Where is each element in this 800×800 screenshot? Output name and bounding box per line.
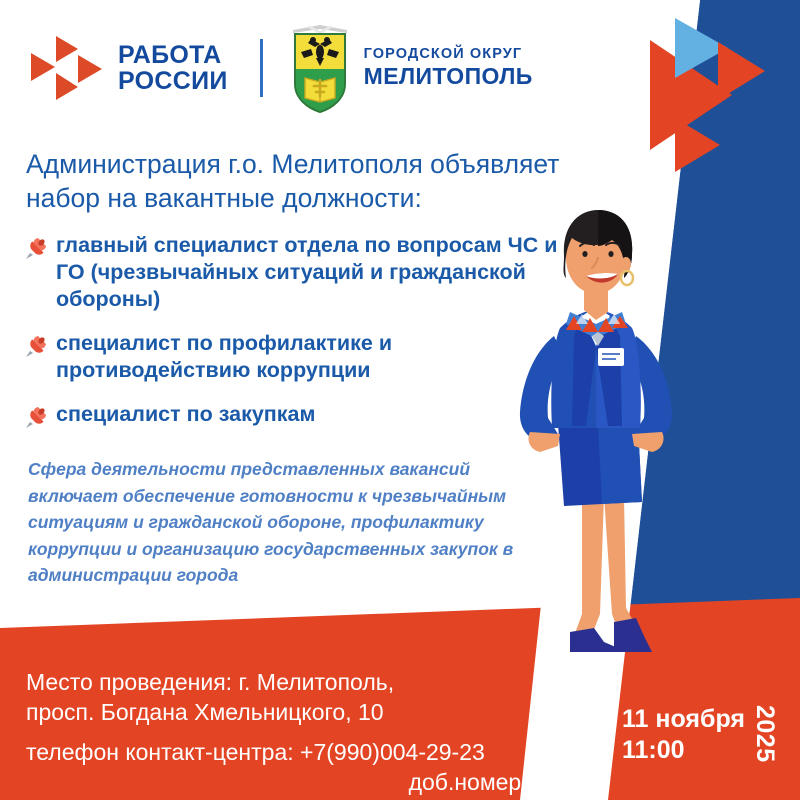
vacancy-list-item: специалист по закупкам — [24, 401, 564, 429]
vacancy-item-label: главный специалист отдела по вопросам ЧС… — [56, 232, 564, 313]
page-headline: Администрация г.о. Мелитополя объявляет … — [26, 148, 638, 216]
melitopol-line2: МЕЛИТОПОЛЬ — [364, 64, 533, 90]
logo-rabota-rossii: РАБОТА РОССИИ — [30, 35, 228, 101]
vacancy-list-item: главный специалист отдела по вопросам ЧС… — [24, 232, 564, 313]
vacancy-list-item: специалист по профилактике и противодейс… — [24, 330, 564, 384]
extension-line: доб.номер 122 — [26, 768, 566, 798]
pushpin-icon — [24, 234, 50, 260]
venue-line-1: Место проведения: г. Мелитополь, — [26, 668, 566, 698]
rabota-rossii-line1: РАБОТА — [118, 42, 228, 68]
vacancy-item-label: специалист по профилактике и противодейс… — [56, 330, 564, 384]
logo-melitopol: ГОРОДСКОЙ ОКРУГ МЕЛИТОПОЛЬ — [289, 22, 533, 114]
rabota-rossii-pinwheel-icon — [30, 35, 104, 101]
rabota-rossii-line2: РОССИИ — [118, 68, 228, 94]
melitopol-line1: ГОРОДСКОЙ ОКРУГ — [364, 47, 533, 63]
event-year: 2025 — [750, 705, 779, 763]
header-divider — [260, 39, 263, 97]
header-logos: РАБОТА РОССИИ — [30, 22, 533, 114]
phone-line: телефон контакт-центра: +7(990)004-29-23 — [26, 738, 566, 768]
footer-contact-block: Место проведения: г. Мелитополь, просп. … — [26, 668, 566, 798]
event-time: 11:00 — [622, 735, 745, 766]
melitopol-coat-of-arms-icon — [289, 22, 351, 114]
event-date-time: 11 ноября 11:00 — [622, 704, 745, 765]
vacancy-list: главный специалист отдела по вопросам ЧС… — [24, 232, 564, 446]
pushpin-icon — [24, 332, 50, 358]
melitopol-wordmark: ГОРОДСКОЙ ОКРУГ МЕЛИТОПОЛЬ — [364, 47, 533, 90]
event-date: 11 ноября — [622, 704, 745, 735]
venue-line-2: просп. Богдана Хмельницкого, 10 — [26, 698, 566, 728]
poster-canvas: РАБОТА РОССИИ — [0, 0, 800, 800]
vacancy-item-label: специалист по закупкам — [56, 401, 315, 428]
description-paragraph: Сфера деятельности представленных ваканс… — [28, 456, 528, 589]
rabota-rossii-wordmark: РАБОТА РОССИИ — [118, 42, 228, 94]
event-date-block: 11 ноября 11:00 2025 — [622, 704, 779, 765]
pushpin-icon — [24, 403, 50, 429]
corner-triangles-decoration — [620, 0, 800, 180]
